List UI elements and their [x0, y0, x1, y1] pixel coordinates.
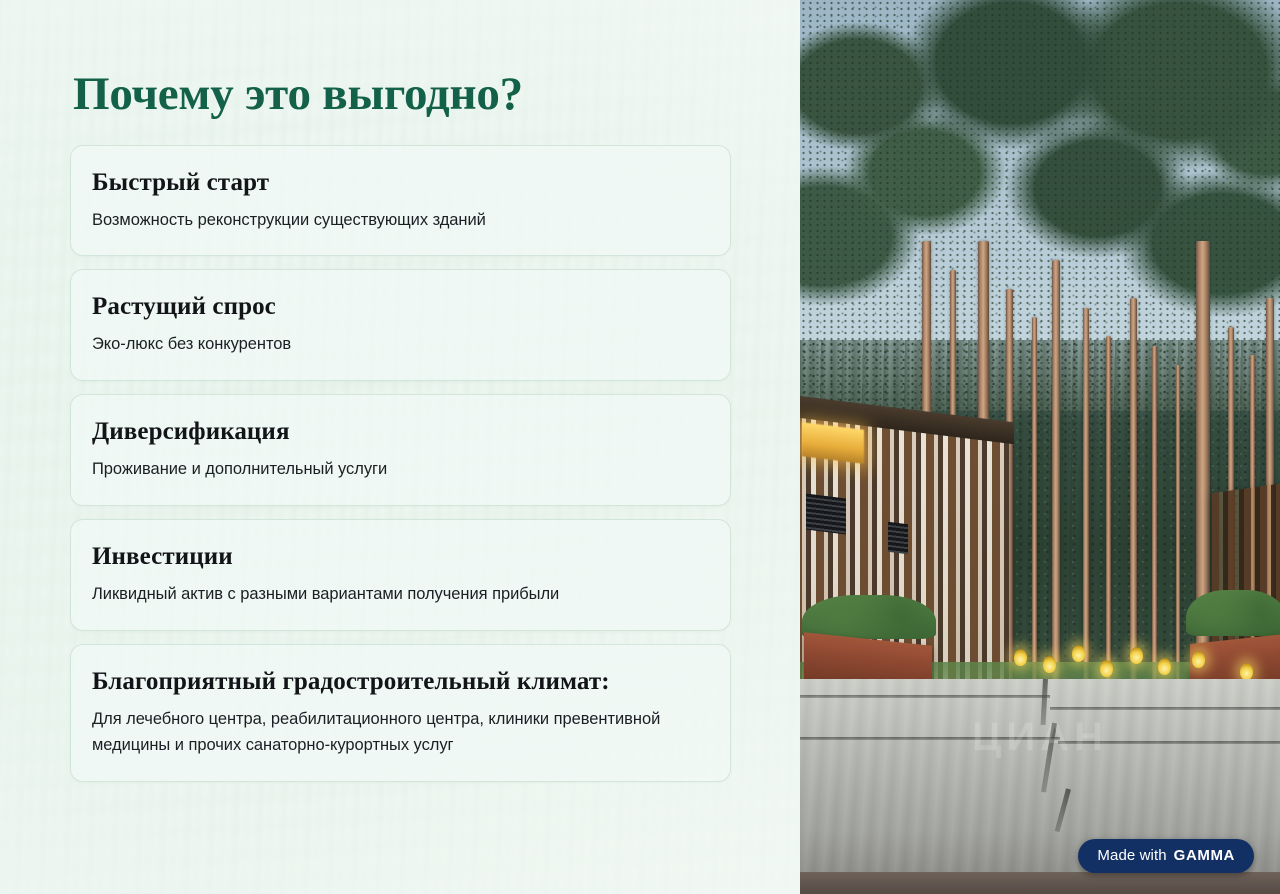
pine-trunk: [1052, 260, 1060, 715]
forest-resort-photo: ЦИАН: [800, 0, 1280, 894]
building-window: [806, 494, 846, 535]
card-title: Растущий спрос: [92, 292, 706, 322]
path-light: [1240, 663, 1253, 680]
content-inner: Почему это выгодно? Быстрый старт Возмож…: [0, 0, 800, 894]
slide-root: Почему это выгодно? Быстрый старт Возмож…: [0, 0, 1280, 894]
path-light: [1043, 656, 1056, 673]
page-title: Почему это выгодно?: [73, 69, 731, 120]
card-body: Возможность реконструкции существующих з…: [92, 207, 706, 234]
card-body: Эко-люкс без конкурентов: [92, 331, 706, 358]
shrub-hedge: [1186, 590, 1280, 636]
card-title: Инвестиции: [92, 542, 706, 572]
card-title: Быстрый старт: [92, 168, 706, 198]
building-window: [888, 522, 908, 554]
benefit-card-list: Быстрый старт Возможность реконструкции …: [70, 145, 731, 782]
card-body: Проживание и дополнительный услуги: [92, 456, 706, 483]
lit-window: [802, 422, 864, 464]
path-light: [1158, 658, 1171, 675]
card-title: Благоприятный градостроительный климат:: [92, 667, 706, 697]
benefit-card-fast-start[interactable]: Быстрый старт Возможность реконструкции …: [70, 145, 731, 257]
benefit-card-diversification[interactable]: Диверсификация Проживание и дополнительн…: [70, 394, 731, 506]
path-light: [1130, 647, 1143, 664]
benefit-card-growing-demand[interactable]: Растущий спрос Эко-люкс без конкурентов: [70, 269, 731, 381]
pine-trunk: [1032, 317, 1037, 715]
benefit-card-investments[interactable]: Инвестиции Ликвидный актив с разными вар…: [70, 519, 731, 631]
photo-panel: ЦИАН Made with GAMMA: [800, 0, 1280, 894]
card-body: Ликвидный актив с разными вариантами пол…: [92, 581, 706, 608]
benefit-card-urban-climate[interactable]: Благоприятный градостроительный климат: …: [70, 644, 731, 782]
path-light: [1192, 651, 1205, 668]
pine-trunk: [1106, 336, 1111, 715]
card-title: Диверсификация: [92, 417, 706, 447]
pine-trunk: [1152, 346, 1157, 716]
gamma-wordmark: GAMMA: [1174, 847, 1235, 864]
made-with-label: Made with: [1097, 847, 1166, 864]
shrub-hedge: [802, 595, 936, 639]
made-with-gamma-badge[interactable]: Made with GAMMA: [1078, 839, 1254, 873]
content-panel: Почему это выгодно? Быстрый старт Возмож…: [0, 0, 800, 894]
path-light: [1100, 660, 1113, 677]
path-light: [1072, 645, 1085, 662]
foreground-paving: [800, 872, 1280, 894]
photo-watermark: ЦИАН: [972, 715, 1108, 760]
path-light: [1014, 649, 1027, 666]
card-body: Для лечебного центра, реабилитационного …: [92, 706, 706, 759]
